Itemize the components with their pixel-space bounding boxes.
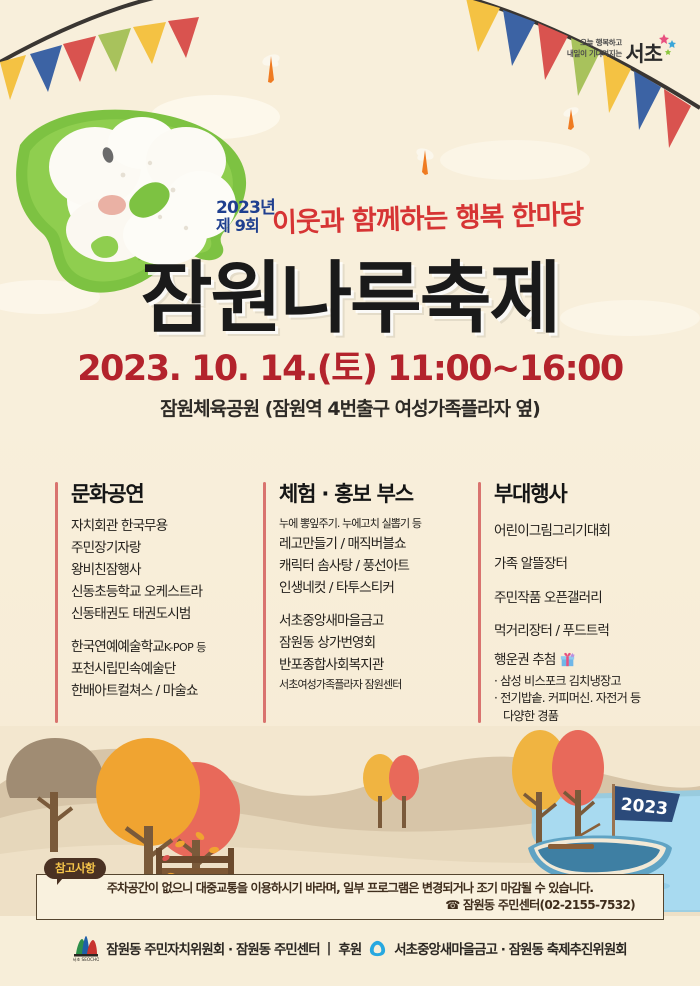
program-item: 주민장기자랑 xyxy=(71,537,263,559)
program-item: 반포종합사회복지관 xyxy=(279,654,478,676)
notice-box: 주차공간이 없으니 대중교통을 이용하시기 바라며, 일부 프로그램은 변경되거… xyxy=(36,874,664,920)
program-item: 잠원동 상가번영회 xyxy=(279,632,478,654)
stars-icon xyxy=(656,32,678,56)
program-columns: 문화공연 자치회관 한국무용 주민장기자랑 왕비친잠행사 신동초등학교 오케스트… xyxy=(55,478,675,723)
program-item: 어린이그림그리기대회 xyxy=(494,515,675,548)
saemaul-geumgo-logo-icon xyxy=(368,939,387,958)
program-item: 캐릭터 솜사탕 / 풍선아트 xyxy=(279,555,478,577)
program-item: 한배아트컬쳐스 / 마술쇼 xyxy=(71,680,263,702)
program-item: 가족 알뜰장터 xyxy=(494,548,675,581)
program-item-note: K-POP 등 xyxy=(164,641,206,654)
raffle-row: 행운권 추첨 xyxy=(494,648,675,672)
seocho-mark-text: 서초 SEOCHO xyxy=(73,956,99,962)
page-title: 잠원나루축제 xyxy=(0,236,700,348)
seocho-brand-logo: 오늘 행복하고 내일이 기다려지는 서초 xyxy=(544,18,684,60)
notice-contact: ☎ 잠원동 주민센터(02-2155-7532) xyxy=(47,896,653,914)
edition-number: 제 9회 xyxy=(216,218,278,235)
notice-text: 주차공간이 없으니 대중교통을 이용하시기 바라며, 일부 프로그램은 변경되거… xyxy=(47,880,653,896)
program-item: 레고만들기 / 매직버블쇼 xyxy=(279,533,478,555)
program-item: 인생네컷 / 타투스티커 xyxy=(279,577,478,599)
program-item: 왕비친잠행사 xyxy=(71,559,263,581)
footer: 서초 SEOCHO 잠원동 주민자치위원회 · 잠원동 주민센터 | 후원 서초… xyxy=(0,928,700,968)
column-title: 문화공연 xyxy=(71,478,263,508)
column-title: 체험 · 홍보 부스 xyxy=(279,478,478,508)
group-spacer xyxy=(279,599,478,610)
dragonfly-icon xyxy=(258,52,284,86)
program-item: 누에 뽕잎주기. 누에고치 실뽑기 등 xyxy=(279,515,478,533)
notice-tag: 참고사항 xyxy=(44,858,106,879)
dragonfly-icon xyxy=(412,145,438,177)
logo-tagline-line1: 오늘 행복하고 xyxy=(567,38,622,49)
program-item: 한국연예예술학교K-POP 등 xyxy=(71,636,263,658)
program-item: 포천시립민속예술단 xyxy=(71,658,263,680)
prize-item: 다양한 경품 xyxy=(494,708,675,726)
program-item-main: 한국연예예술학교 xyxy=(71,639,164,655)
program-item: 자치회관 한국무용 xyxy=(71,515,263,537)
prize-item: · 전기밥솥. 커피머신. 자전거 등 xyxy=(494,690,675,708)
footer-separator: | xyxy=(327,941,332,956)
event-venue: 잠원체육공원 (잠원역 4번출구 여성가족플라자 옆) xyxy=(0,394,700,421)
program-item: 신동초등학교 오케스트라 xyxy=(71,581,263,603)
column-title: 부대행사 xyxy=(494,478,675,508)
seocho-gu-mark-icon: 서초 SEOCHO xyxy=(73,934,99,962)
festival-poster: 오늘 행복하고 내일이 기다려지는 서초 xyxy=(0,0,700,986)
program-item: 서초중앙새마을금고 xyxy=(279,610,478,632)
program-column-booths: 체험 · 홍보 부스 누에 뽕잎주기. 누에고치 실뽑기 등 레고만들기 / 매… xyxy=(263,478,478,723)
group-spacer xyxy=(71,625,263,636)
footer-sponsor-label: 후원 xyxy=(338,938,361,958)
raffle-label: 행운권 추첨 xyxy=(494,652,555,668)
program-item: 먹거리장터 / 푸드트럭 xyxy=(494,615,675,648)
program-item: 신동태권도 태권도시범 xyxy=(71,603,263,625)
edition-label: 2023년 제 9회 xyxy=(216,200,278,235)
program-item: 서초여성가족플라자 잠원센터 xyxy=(279,676,478,694)
prize-item: · 삼성 비스포크 김치냉장고 xyxy=(494,673,675,691)
program-column-side-events: 부대행사 어린이그림그리기대회 가족 알뜰장터 주민작품 오픈갤러리 먹거리장터… xyxy=(478,478,675,723)
dragonfly-icon xyxy=(560,104,582,132)
footer-organizers: 잠원동 주민자치위원회 · 잠원동 주민센터 xyxy=(106,938,319,958)
program-column-cultural: 문화공연 자치회관 한국무용 주민장기자랑 왕비친잠행사 신동초등학교 오케스트… xyxy=(55,478,263,723)
event-date: 2023. 10. 14.(토) 11:00~16:00 xyxy=(0,340,700,391)
logo-tagline-line2: 내일이 기다려지는 xyxy=(567,49,622,60)
footer-sponsors: 서초중앙새마을금고 · 잠원동 축제추진위원회 xyxy=(394,938,626,958)
logo-tagline: 오늘 행복하고 내일이 기다려지는 xyxy=(567,38,622,60)
program-item: 주민작품 오픈갤러리 xyxy=(494,582,675,615)
gift-icon xyxy=(559,652,576,667)
